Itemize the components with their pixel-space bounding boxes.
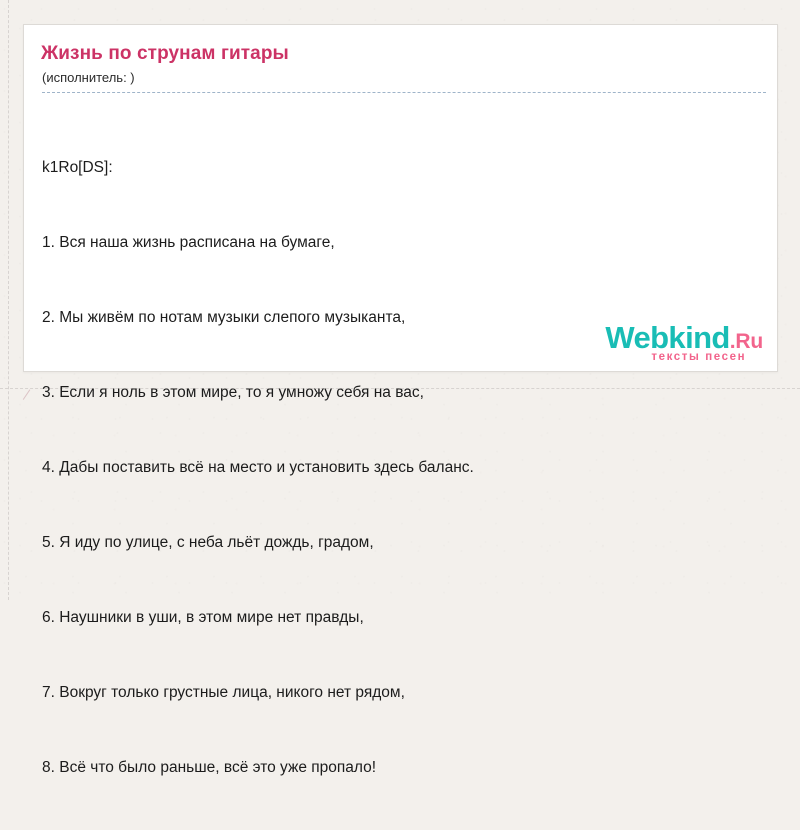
lyrics-card: Жизнь по струнам гитары (исполнитель: ) … [23, 24, 778, 372]
lyrics-card-inner: Жизнь по струнам гитары (исполнитель: ) … [24, 25, 777, 830]
lyric-line: 1. Вся наша жизнь расписана на бумаге, [42, 230, 759, 255]
lyric-line: 6. Наушники в уши, в этом мире нет правд… [42, 605, 759, 630]
lyric-line: 8. Всё что было раньше, всё это уже проп… [42, 755, 759, 780]
lyrics-body: k1Ro[DS]: 1. Вся наша жизнь расписана на… [42, 105, 759, 830]
artist-line: (исполнитель: ) [42, 68, 759, 87]
lyric-line: k1Ro[DS]: [42, 155, 759, 180]
site-logo: Webkind.Ru тексты песен [605, 322, 763, 364]
lyric-line: 4. Дабы поставить всё на место и установ… [42, 455, 759, 480]
lyric-line: 5. Я иду по улице, с неба льёт дождь, гр… [42, 530, 759, 555]
song-title: Жизнь по струнам гитары [41, 42, 759, 66]
logo-tld-text: .Ru [730, 330, 763, 353]
logo-main-text: Webkind [605, 320, 729, 355]
lyric-line: 7. Вокруг только грустные лица, никого н… [42, 680, 759, 705]
title-separator [42, 92, 766, 93]
lyric-line: 3. Если я ноль в этом мире, то я умножу … [42, 380, 759, 405]
page-frame-left-rule [8, 0, 9, 600]
